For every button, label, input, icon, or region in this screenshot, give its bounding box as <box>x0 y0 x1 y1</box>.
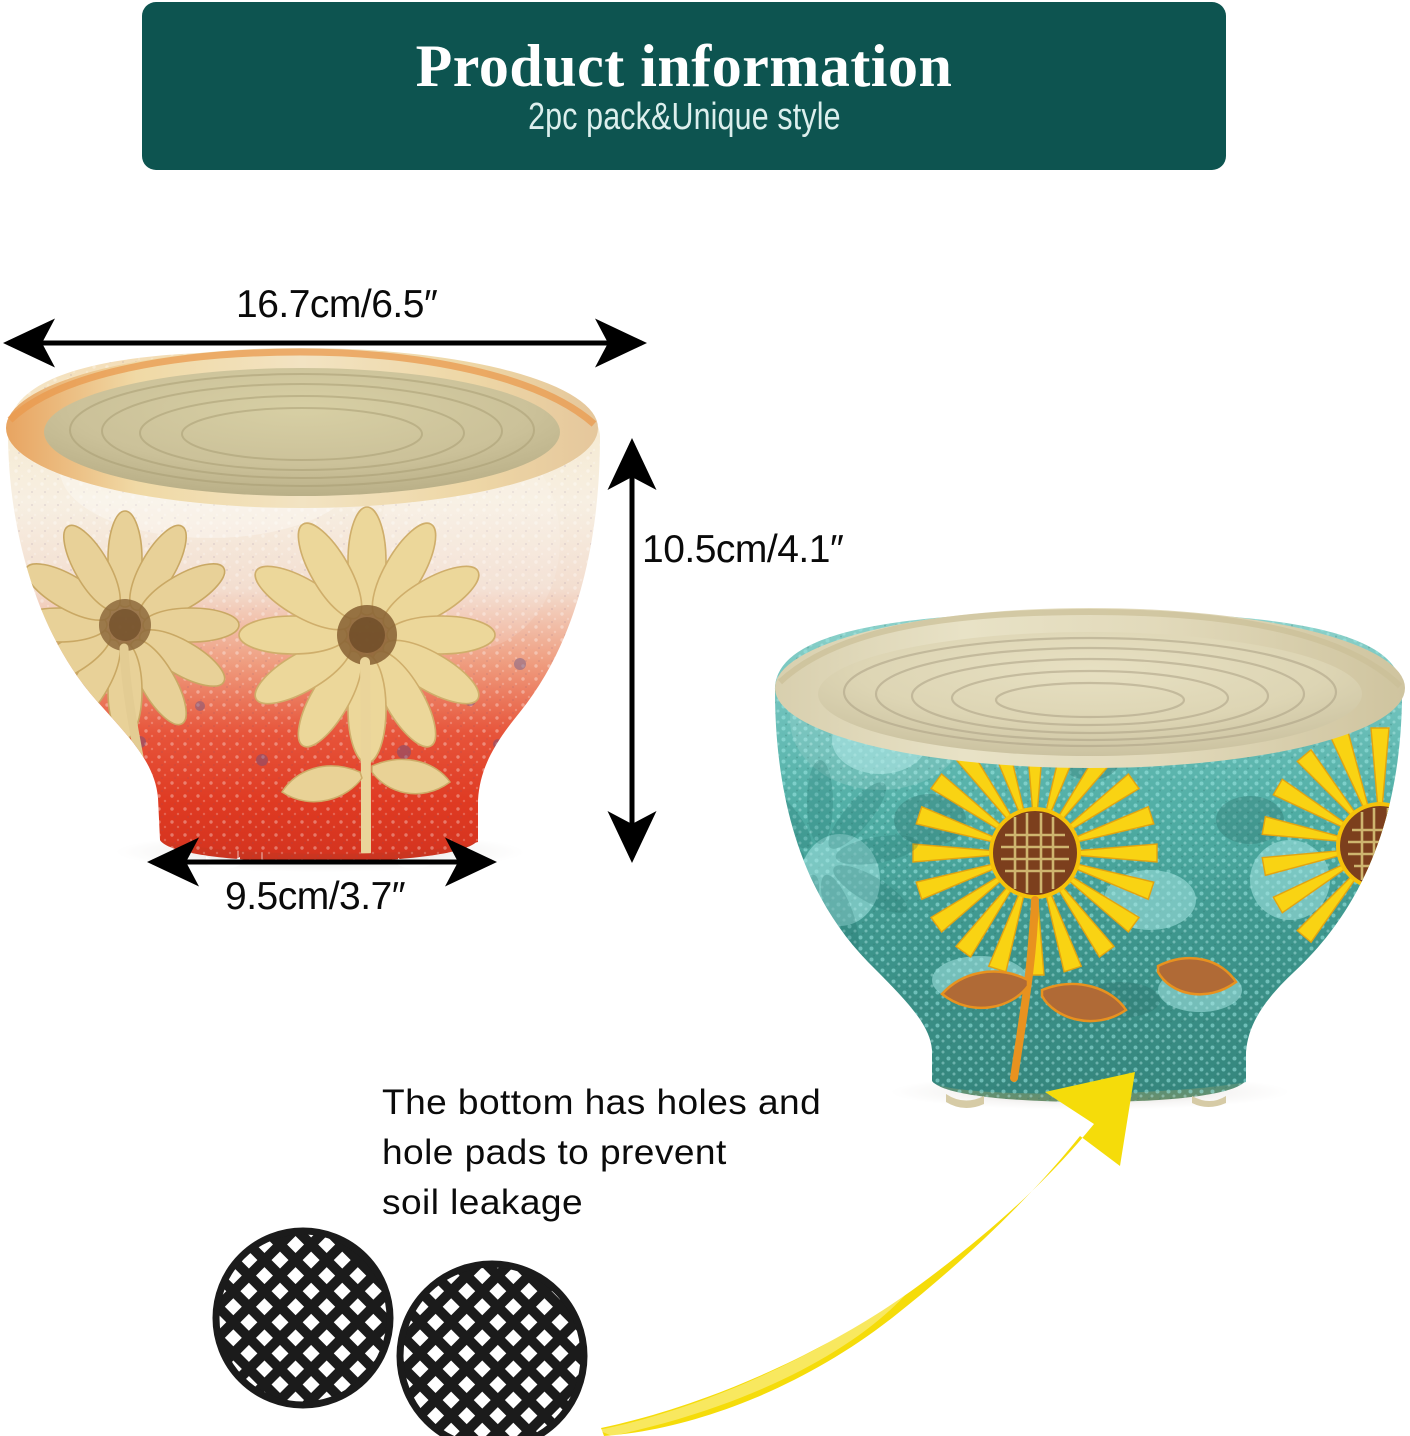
flower-motif <box>11 511 239 739</box>
feature-note: The bottom has holes and hole pads to pr… <box>382 1078 933 1228</box>
feature-note-line-1: The bottom has holes and <box>382 1078 933 1128</box>
page-subtitle: 2pc pack&Unique style <box>528 98 841 136</box>
drainage-mesh-pad <box>398 1262 594 1436</box>
dimension-label-width: 16.7cm/6.5″ <box>236 283 437 327</box>
page-title: Product information <box>416 36 953 96</box>
product-image-red-planter <box>0 348 620 872</box>
flower-motif <box>913 731 1157 975</box>
drainage-mesh-pad <box>210 1225 400 1415</box>
header-banner: Product information 2pc pack&Unique styl… <box>142 2 1226 170</box>
feature-note-line-3: soil leakage <box>382 1178 933 1228</box>
dimension-label-base-width: 9.5cm/3.7″ <box>225 875 405 919</box>
dimension-label-height: 10.5cm/4.1″ <box>642 528 843 572</box>
feature-note-line-2: hole pads to prevent <box>382 1128 933 1178</box>
product-image-teal-planter <box>719 605 1410 1115</box>
flower-motif <box>239 507 495 763</box>
flower-motif <box>1262 728 1410 964</box>
